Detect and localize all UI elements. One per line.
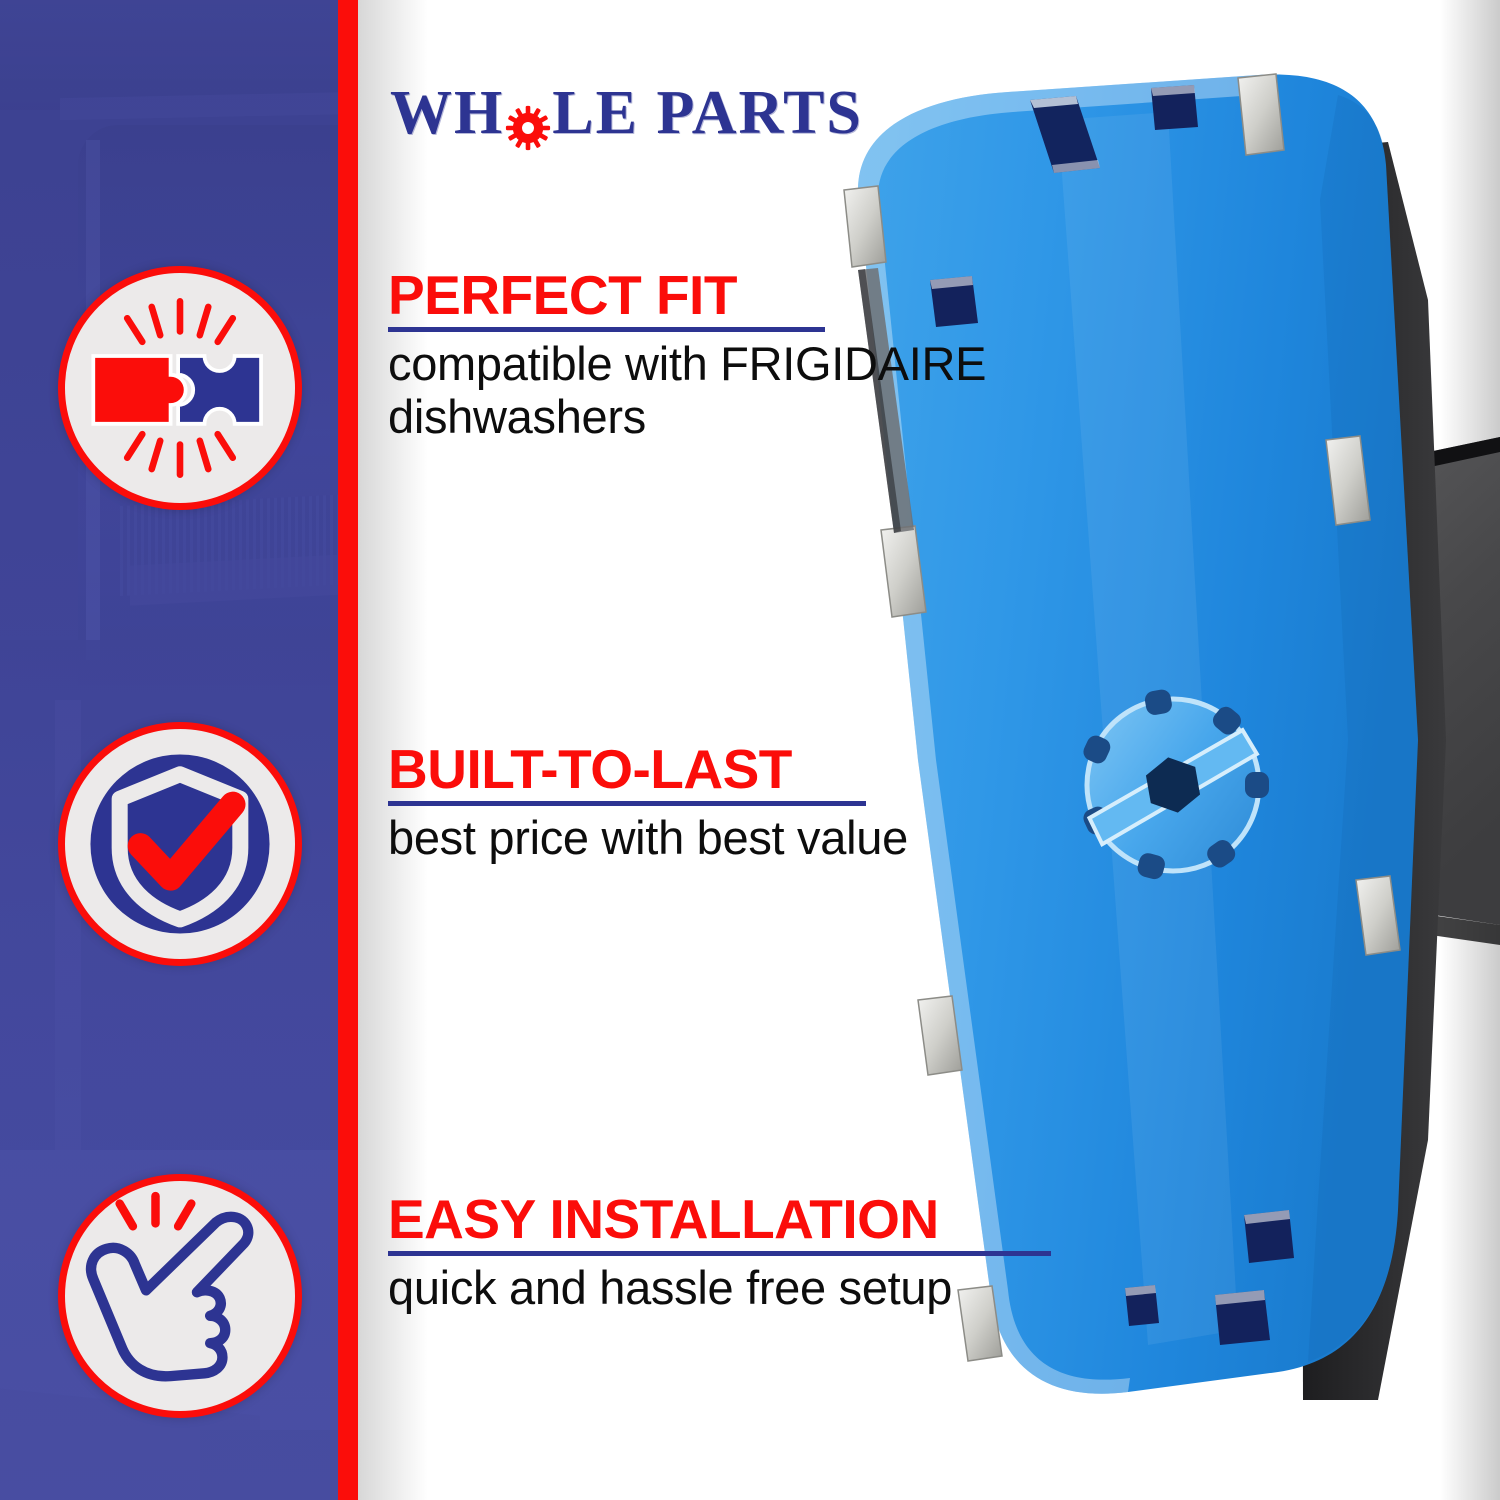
- feature-underline: [388, 1251, 1051, 1256]
- feature-heading: EASY INSTALLATION: [388, 1192, 1148, 1247]
- feature-heading: BUILT-TO-LAST: [388, 742, 1148, 797]
- content-panel: WH: [358, 0, 1500, 1500]
- logo-text-part1: WH: [390, 78, 504, 149]
- product-marketing-image: WH: [0, 0, 1500, 1500]
- feature-body: compatible with FRIGIDAIRE dishwashers: [388, 338, 1148, 443]
- feature-heading: PERFECT FIT: [388, 268, 1148, 323]
- red-vertical-divider: [338, 0, 358, 1500]
- shield-check-icon: [58, 722, 302, 966]
- feature-block-perfect-fit: PERFECT FIT compatible with FRIGIDAIRE d…: [388, 268, 1148, 443]
- gear-icon: [505, 96, 551, 142]
- feature-block-easy-installation: EASY INSTALLATION quick and hassle free …: [388, 1192, 1148, 1315]
- feature-underline: [388, 801, 866, 806]
- puzzle-piece-icon: [58, 266, 302, 510]
- feature-body: best price with best value: [388, 812, 1148, 865]
- brand-logo: WH: [390, 78, 863, 149]
- feature-underline: [388, 327, 825, 332]
- feature-block-built-to-last: BUILT-TO-LAST best price with best value: [388, 742, 1148, 865]
- logo-text-part2: LE PARTS: [552, 78, 863, 149]
- feature-body: quick and hassle free setup: [388, 1262, 1148, 1315]
- pointing-hand-icon: [58, 1174, 302, 1418]
